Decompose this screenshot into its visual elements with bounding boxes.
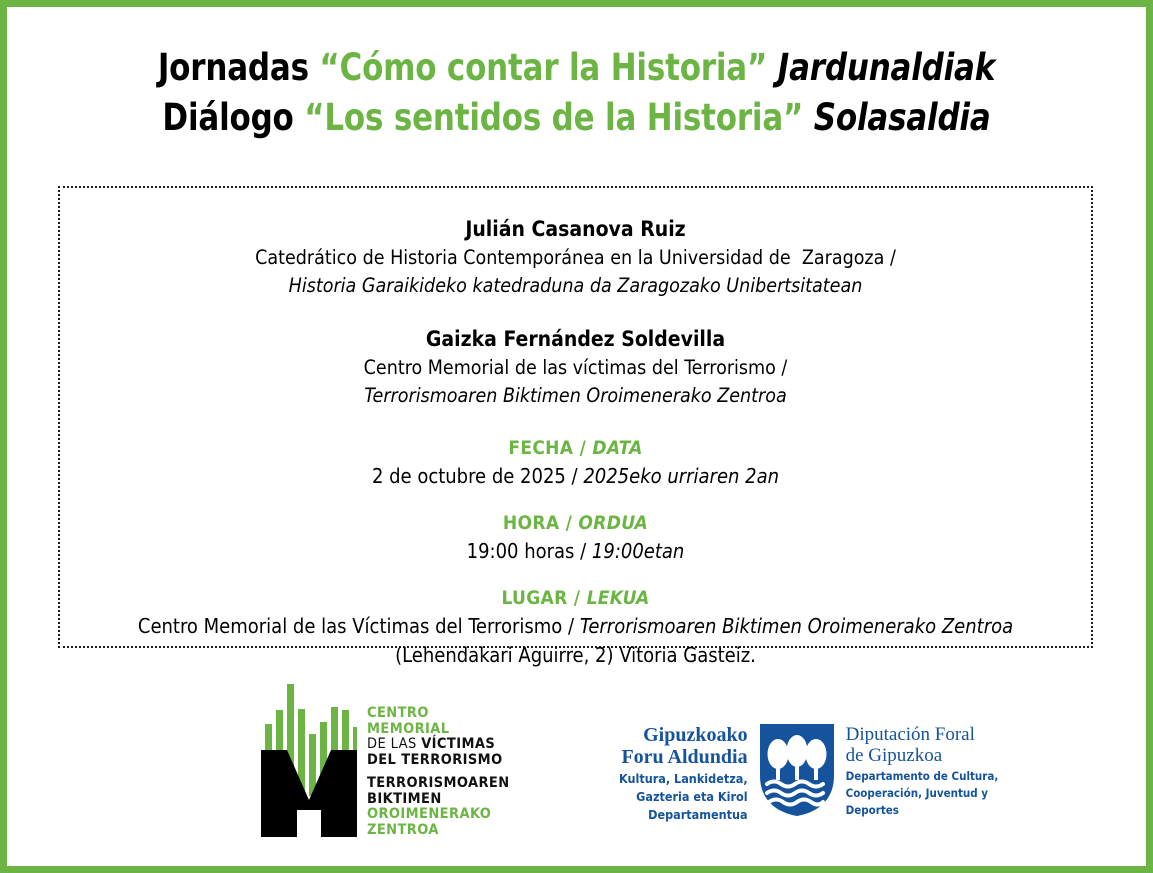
cm-line-del-terrorismo: DEL TERRORISMO <box>367 753 510 769</box>
cm-line-memorial: MEMORIAL <box>367 722 510 738</box>
detail-value: Centro Memorial de las Víctimas del Terr… <box>60 612 1091 641</box>
logo-row: CENTRO MEMORIAL DE LAS VÍCTIMAS DEL TERR… <box>7 672 1146 852</box>
detail-block-hora: HORA / ORDUA 19:00 horas / 19:00etan <box>60 509 1091 566</box>
detail-label: LUGAR / LEKUA <box>60 584 1091 612</box>
speaker-block: Gaizka Fernández Soldevilla Centro Memor… <box>60 324 1091 410</box>
dfg-sub-line-1: Departamento de Cultura, <box>846 769 999 783</box>
detail-value-eu: 19:00etan <box>592 539 684 563</box>
gip-sub-line-2: Gazteria eta Kirol <box>619 789 748 804</box>
detail-block-fecha: FECHA / DATA 2 de octubre de 2025 / 2025… <box>60 434 1091 491</box>
centro-memorial-wordmark: CENTRO MEMORIAL DE LAS VÍCTIMAS DEL TERR… <box>367 706 510 838</box>
detail-label: FECHA / DATA <box>60 434 1091 462</box>
diputacion-spanish-text: Diputación Foral de Gipuzkoa Departament… <box>846 722 999 817</box>
detail-value-eu: 2025eko urriaren 2an <box>583 464 779 488</box>
centro-memorial-logo: CENTRO MEMORIAL DE LAS VÍCTIMAS DEL TERR… <box>261 682 510 838</box>
detail-value: 19:00 horas / 19:00etan <box>60 537 1091 566</box>
centro-memorial-m-mark <box>261 682 357 837</box>
detail-label-es: HORA <box>503 512 559 534</box>
cm-line-oroimenerako: OROIMENERAKO <box>367 807 510 823</box>
speaker-role-eu: Historia Garaikideko katedraduna da Zara… <box>60 272 1091 300</box>
title-line-1-post: Jardunaldiak <box>767 46 995 89</box>
dfg-sub-line-2: Cooperación, Juventud y <box>846 786 999 800</box>
spacer <box>60 300 1091 324</box>
gip-title-line-2: Foru Aldundia <box>619 746 748 768</box>
speaker-name: Gaizka Fernández Soldevilla <box>60 324 1091 354</box>
dfg-title-line-1: Diputación Foral <box>846 724 999 745</box>
detail-label-eu: LEKUA <box>587 587 650 609</box>
gipuzkoa-logo: Gipuzkoako Foru Aldundia Kultura, Lankid… <box>619 722 998 822</box>
detail-value-es: Centro Memorial de las Víctimas del Terr… <box>138 614 580 638</box>
detail-label-sep: / <box>568 587 587 609</box>
speaker-role-es: Catedrático de Historia Contemporánea en… <box>60 244 1091 272</box>
title-line-2-quoted: “Los sentidos de la Historia” <box>304 96 803 139</box>
gip-sub-line-3: Departamentua <box>619 807 748 822</box>
info-panel: Julián Casanova Ruiz Catedrático de Hist… <box>58 186 1093 648</box>
detail-label-sep: / <box>559 512 578 534</box>
title-line-1-quoted: “Cómo contar la Historia” <box>319 46 767 89</box>
gip-sub-line-1: Kultura, Lankidetza, <box>619 771 748 786</box>
title-line-1: Jornadas “Cómo contar la Historia” Jardu… <box>47 43 1106 93</box>
speaker-name: Julián Casanova Ruiz <box>60 214 1091 244</box>
cm-line-terrorismoaren: TERRORISMOAREN <box>367 776 510 792</box>
gip-title-line-1: Gipuzkoako <box>619 724 748 746</box>
cm-victimas: VÍCTIMAS <box>421 736 495 752</box>
title-line-2-pre: Diálogo <box>162 96 304 139</box>
detail-value-line2: (Lehendakari Aguirre, 2) Vitoria Gasteiz… <box>60 641 1091 670</box>
spacer <box>60 491 1091 509</box>
cm-line-zentroa: ZENTROA <box>367 823 510 839</box>
detail-label-es: FECHA <box>508 437 573 459</box>
cm-line-biktimen: BIKTIMEN <box>367 792 510 808</box>
dfg-title-line-2: de Gipuzkoa <box>846 745 999 766</box>
title-line-2: Diálogo “Los sentidos de la Historia” So… <box>47 93 1106 143</box>
detail-label-sep: / <box>573 437 592 459</box>
poster-root: Jornadas “Cómo contar la Historia” Jardu… <box>0 0 1153 873</box>
detail-value-es: 2 de octubre de 2025 / <box>372 464 583 488</box>
detail-value: 2 de octubre de 2025 / 2025eko urriaren … <box>60 462 1091 491</box>
detail-value-es: 19:00 horas / <box>467 539 592 563</box>
info-panel-content: Julián Casanova Ruiz Catedrático de Hist… <box>60 188 1091 670</box>
cm-line-centro: CENTRO <box>367 706 510 722</box>
dfg-sub-line-3: Deportes <box>846 803 999 817</box>
gipuzkoa-basque-text: Gipuzkoako Foru Aldundia Kultura, Lankid… <box>619 722 748 822</box>
title-line-2-post: Solasaldia <box>803 96 990 139</box>
speaker-role-es: Centro Memorial de las víctimas del Terr… <box>60 354 1091 382</box>
detail-value-eu: Terrorismoaren Biktimen Oroimenerako Zen… <box>580 614 1013 638</box>
detail-block-lugar: LUGAR / LEKUA Centro Memorial de las Víc… <box>60 584 1091 670</box>
spacer <box>60 410 1091 434</box>
speaker-block: Julián Casanova Ruiz Catedrático de Hist… <box>60 214 1091 300</box>
cm-line-de-las-victimas: DE LAS VÍCTIMAS <box>367 737 510 753</box>
title-line-1-pre: Jornadas <box>158 46 320 89</box>
detail-label-es: LUGAR <box>502 587 568 609</box>
gipuzkoa-coat-of-arms <box>758 722 836 818</box>
cm-de-las: DE LAS <box>367 736 421 752</box>
detail-label-eu: ORDUA <box>578 512 648 534</box>
page-title: Jornadas “Cómo contar la Historia” Jardu… <box>7 43 1146 143</box>
detail-label: HORA / ORDUA <box>60 509 1091 537</box>
spacer <box>60 566 1091 584</box>
detail-label-eu: DATA <box>592 437 642 459</box>
speaker-role-eu: Terrorismoaren Biktimen Oroimenerako Zen… <box>60 382 1091 410</box>
